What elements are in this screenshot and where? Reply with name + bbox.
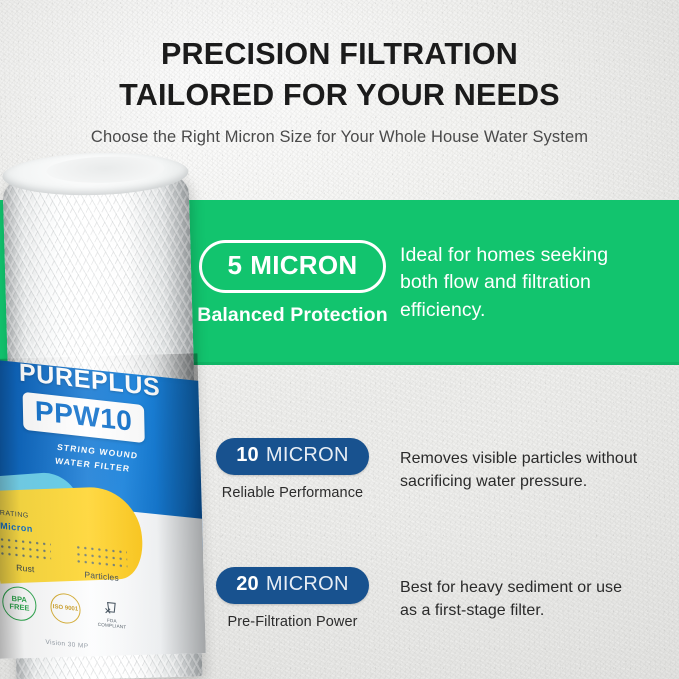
rating-text: RATING Micron [0, 509, 33, 536]
header-block: PRECISION FILTRATION TAILORED FOR YOUR N… [0, 34, 679, 147]
micron-description-10: Removes visible particles without sacrif… [400, 438, 663, 493]
page-subtitle: Choose the Right Micron Size for Your Wh… [0, 128, 679, 147]
micron-description-5: Ideal for homes seeking both flow and fi… [400, 240, 663, 324]
desc-10-line-2: sacrificing water pressure. [400, 470, 663, 493]
desc-5-line-3: efficiency. [400, 297, 663, 324]
page-title: PRECISION FILTRATION TAILORED FOR YOUR N… [0, 34, 679, 115]
micron-badge-20: 20 MICRON [216, 567, 369, 604]
desc-5-line-1: Ideal for homes seeking [400, 242, 663, 269]
description-column-10: Removes visible particles without sacrif… [400, 438, 679, 493]
particle-dots-icon [0, 536, 51, 563]
product-filter-cartridge: PUREPLUS PPW10 STRING WOUND WATER FILTER… [0, 157, 214, 679]
micron-subtitle-5: Balanced Protection [197, 304, 387, 327]
micron-unit-10: MICRON [266, 444, 349, 467]
description-column-5: Ideal for homes seeking both flow and fi… [400, 240, 679, 324]
micron-subtitle-20: Pre-Filtration Power [227, 614, 357, 630]
micron-number-5: 5 [227, 250, 242, 281]
micron-badge-5: 5 MICRON [199, 240, 385, 293]
product-label: PUREPLUS PPW10 STRING WOUND WATER FILTER… [0, 353, 206, 659]
desc-10-line-1: Removes visible particles without [400, 447, 663, 470]
desc-20-line-2: as a first-stage filter. [400, 599, 663, 622]
description-column-20: Best for heavy sediment or use as a firs… [400, 567, 679, 622]
headline-line-1: PRECISION FILTRATION [0, 34, 679, 75]
micron-unit-5: MICRON [250, 250, 357, 281]
micron-description-20: Best for heavy sediment or use as a firs… [400, 567, 663, 622]
food-grade-caption: FDA COMPLIANT [95, 616, 129, 630]
desc-5-line-2: both flow and filtration [400, 269, 663, 296]
filter-top-inner [46, 155, 165, 184]
poster-root: PRECISION FILTRATION TAILORED FOR YOUR N… [0, 0, 679, 679]
food-grade-cup-icon: FDA COMPLIANT [94, 597, 129, 630]
rating-value: Micron [0, 520, 33, 533]
headline-line-2: TAILORED FOR YOUR NEEDS [0, 75, 679, 116]
micron-badge-10: 10 MICRON [216, 438, 369, 475]
model-number: PPW10 [35, 395, 133, 437]
micron-number-20: 20 [236, 573, 259, 596]
feature-item: Rust [0, 536, 52, 576]
feature-item: Particles [75, 544, 128, 584]
micron-number-10: 10 [236, 444, 259, 467]
micron-unit-20: MICRON [266, 573, 349, 596]
particle-dots-icon [75, 544, 128, 571]
micron-subtitle-10: Reliable Performance [222, 485, 363, 501]
iso-seal-icon: ISO 9001 [50, 592, 81, 625]
bpa-free-icon: BPA FREE [2, 585, 37, 623]
desc-20-line-1: Best for heavy sediment or use [400, 576, 663, 599]
